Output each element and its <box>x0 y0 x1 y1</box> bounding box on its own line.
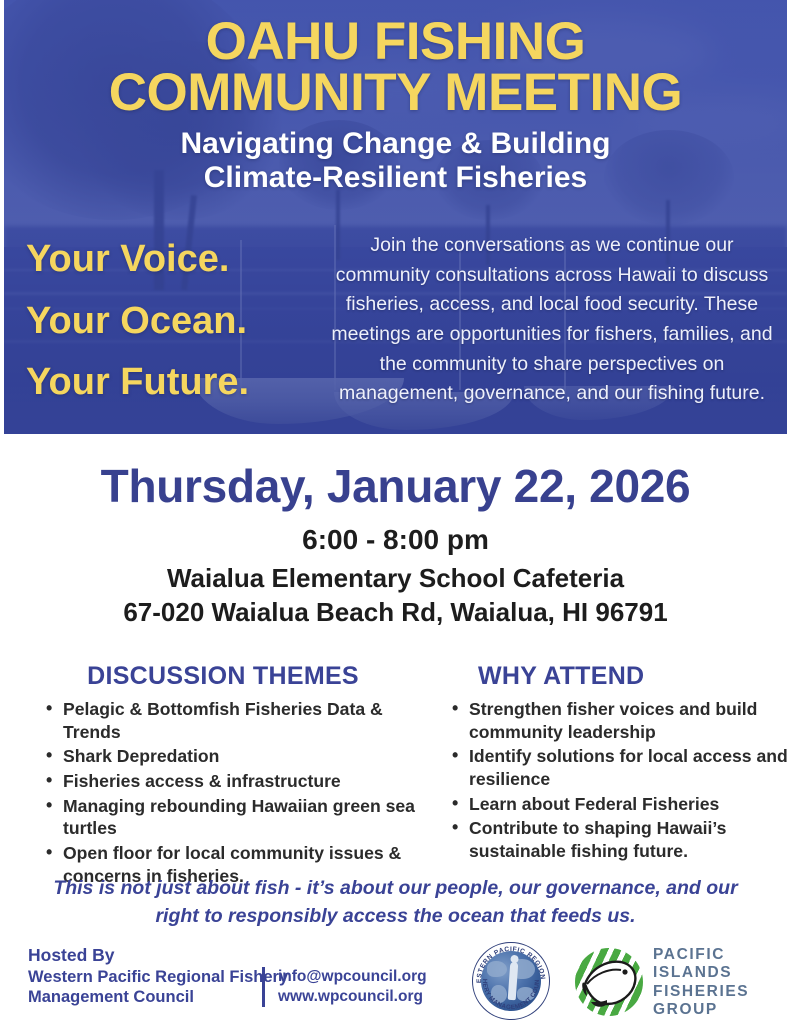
contact-website[interactable]: www.wpcouncil.org <box>278 987 427 1007</box>
discussion-themes-list: Pelagic & Bottomfish Fisheries Data & Tr… <box>18 698 428 888</box>
host-org-line-2: Management Council <box>28 987 288 1007</box>
pifg-line-1: PACIFIC <box>653 946 749 964</box>
pifg-line-4: GROUP <box>653 1001 749 1019</box>
hosted-by-label: Hosted By <box>28 945 288 967</box>
slogan-line-2: Your Ocean. <box>26 291 331 353</box>
hosted-by-block: Hosted By Western Pacific Regional Fishe… <box>28 945 288 1008</box>
list-item: Managing rebounding Hawaiian green sea t… <box>46 795 428 840</box>
list-item: Contribute to shaping Hawaii’s sustainab… <box>452 817 791 862</box>
pifg-line-2: ISLANDS <box>653 964 749 982</box>
intro-paragraph: Join the conversations as we continue ou… <box>331 223 773 409</box>
pifg-logo: PACIFIC ISLANDS FISHERIES GROUP <box>575 944 771 1020</box>
footer: Hosted By Western Pacific Regional Fishe… <box>0 940 791 1024</box>
page-title: OAHU FISHING COMMUNITY MEETING <box>4 0 787 119</box>
fish-icon <box>581 954 639 1010</box>
event-address: 67-020 Waialua Beach Rd, Waialua, HI 967… <box>0 597 791 628</box>
flyer-page: OAHU FISHING COMMUNITY MEETING Navigatin… <box>0 0 791 1024</box>
list-item: Strengthen fisher voices and build commu… <box>452 698 791 743</box>
pifg-wordmark: PACIFIC ISLANDS FISHERIES GROUP <box>653 946 749 1019</box>
headline-line-2: COMMUNITY MEETING <box>4 68 787 119</box>
host-org-line-1: Western Pacific Regional Fishery <box>28 967 288 987</box>
slogan-line-1: Your Voice. <box>26 229 331 291</box>
event-time: 6:00 - 8:00 pm <box>0 524 791 556</box>
subtitle-line-2: Climate-Resilient Fisheries <box>4 161 787 195</box>
headline-line-1: OAHU FISHING <box>4 17 787 68</box>
wprfmc-seal-logo: WESTERN PACIFIC REGIONAL FISHERY MANAGEM… <box>472 942 550 1020</box>
list-item: Identify solutions for local access and … <box>452 745 791 790</box>
svg-text:WESTERN PACIFIC REGIONAL: WESTERN PACIFIC REGIONAL <box>472 942 546 983</box>
contact-block: info@wpcouncil.org www.wpcouncil.org <box>262 967 427 1007</box>
slogan-block: Your Voice. Your Ocean. Your Future. <box>26 223 331 414</box>
why-attend-list: Strengthen fisher voices and build commu… <box>432 698 791 863</box>
why-attend-title: WHY ATTEND <box>432 662 791 691</box>
list-item: Learn about Federal Fisheries <box>452 793 791 816</box>
contact-email[interactable]: info@wpcouncil.org <box>278 967 427 987</box>
slogan-line-3: Your Future. <box>26 352 331 414</box>
pifg-line-3: FISHERIES <box>653 983 749 1001</box>
content-columns: DISCUSSION THEMES Pelagic & Bottomfish F… <box>0 662 791 890</box>
discussion-themes-title: DISCUSSION THEMES <box>18 662 428 691</box>
event-venue: Waialua Elementary School Cafeteria <box>0 563 791 594</box>
seal-text-ring: WESTERN PACIFIC REGIONAL FISHERY MANAGEM… <box>472 942 550 1020</box>
page-subtitle: Navigating Change & Building Climate-Res… <box>4 127 787 195</box>
hero-banner: OAHU FISHING COMMUNITY MEETING Navigatin… <box>4 0 787 434</box>
list-item: Pelagic & Bottomfish Fisheries Data & Tr… <box>46 698 428 743</box>
event-date: Thursday, January 22, 2026 <box>0 462 791 510</box>
why-attend-column: WHY ATTEND Strengthen fisher voices and … <box>428 662 791 865</box>
discussion-themes-column: DISCUSSION THEMES Pelagic & Bottomfish F… <box>0 662 428 890</box>
seal-top-text: WESTERN PACIFIC REGIONAL <box>472 942 546 983</box>
pifg-striped-circle-icon <box>575 948 643 1016</box>
list-item: Shark Depredation <box>46 745 428 768</box>
subtitle-line-1: Navigating Change & Building <box>4 127 787 161</box>
closing-tagline: This is not just about fish - it’s about… <box>50 875 741 930</box>
event-details: Thursday, January 22, 2026 6:00 - 8:00 p… <box>0 462 791 628</box>
list-item: Fisheries access & infrastructure <box>46 770 428 793</box>
